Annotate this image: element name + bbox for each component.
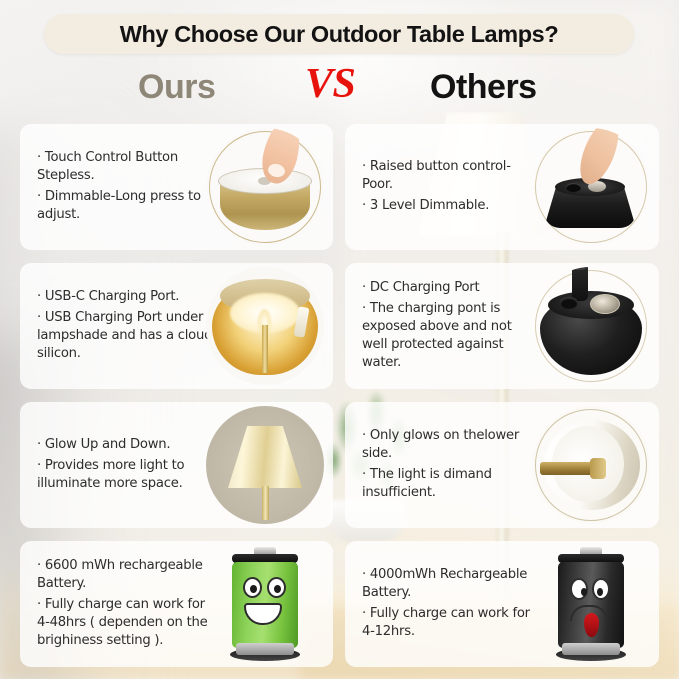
- others-card-battery: · 4000mWh Rechargeable Battery. · Fully …: [345, 541, 659, 667]
- bullet-item: · Dimmable-Long press to adjust.: [37, 188, 215, 224]
- page-title: Why Choose Our Outdoor Table Lamps?: [120, 21, 559, 48]
- card-text: · USB-C Charging Port. · USB Charging Po…: [37, 288, 215, 364]
- card-text: · Raised button control-Poor. · 3 Level …: [362, 158, 534, 216]
- bullet-item: · USB-C Charging Port.: [37, 288, 215, 306]
- card-text: · DC Charging Port · The charging pont i…: [362, 279, 534, 373]
- ours-card-glow-up-down: · Glow Up and Down. · Provides more ligh…: [20, 402, 333, 528]
- card-text: · Only glows on thelower side. · The lig…: [362, 427, 534, 503]
- card-text: · 4000mWh Rechargeable Battery. · Fully …: [362, 566, 534, 642]
- column-labels: Ours VS Others: [0, 62, 679, 118]
- ours-card-touch-control: · Touch Control Button Stepless. · Dimma…: [20, 124, 333, 250]
- others-card-dc-port: · DC Charging Port · The charging pont i…: [345, 263, 659, 389]
- comparison-row: · Glow Up and Down. · Provides more ligh…: [0, 400, 679, 539]
- black-lamp-dc-port-photo: [523, 263, 659, 389]
- card-text: · Touch Control Button Stepless. · Dimma…: [37, 149, 215, 225]
- gold-lampshade-glow-photo: [197, 402, 333, 528]
- others-card-raised-button: · Raised button control-Poor. · 3 Level …: [345, 124, 659, 250]
- bullet-item: · Raised button control-Poor.: [362, 158, 534, 194]
- green-happy-battery-icon: [197, 541, 333, 667]
- white-lampshade-underside-photo: [523, 402, 659, 528]
- gold-lamp-usbc-port-photo: [197, 263, 333, 389]
- others-card-lower-glow: · Only glows on thelower side. · The lig…: [345, 402, 659, 528]
- ours-card-battery: · 6600 mWh rechargeable Battery. · Fully…: [20, 541, 333, 667]
- card-text: · 6600 mWh rechargeable Battery. · Fully…: [37, 557, 215, 651]
- comparison-grid: · Touch Control Button Stepless. · Dimma…: [0, 122, 679, 678]
- bullet-item: · USB Charging Port under lampshade and …: [37, 309, 215, 363]
- bullet-item: · 3 Level Dimmable.: [362, 197, 534, 215]
- black-lamp-raised-button-photo: [523, 124, 659, 250]
- bullet-item: · The light is dimand insufficient.: [362, 466, 534, 502]
- bullet-item: · Fully charge can work for 4-12hrs.: [362, 605, 534, 641]
- bullet-item: · Only glows on thelower side.: [362, 427, 534, 463]
- comparison-row: · 6600 mWh rechargeable Battery. · Fully…: [0, 539, 679, 678]
- gold-lamp-touch-button-photo: [197, 124, 333, 250]
- bullet-item: · Provides more light to illuminate more…: [37, 457, 215, 493]
- column-label-others: Others: [430, 68, 537, 107]
- bullet-item: · Touch Control Button Stepless.: [37, 149, 215, 185]
- bullet-item: · 6600 mWh rechargeable Battery.: [37, 557, 215, 593]
- versus-label: VS: [305, 60, 355, 108]
- bullet-item: · 4000mWh Rechargeable Battery.: [362, 566, 534, 602]
- card-text: · Glow Up and Down. · Provides more ligh…: [37, 436, 215, 494]
- header-banner: Why Choose Our Outdoor Table Lamps?: [44, 14, 634, 54]
- bullet-item: · DC Charging Port: [362, 279, 534, 297]
- dark-sad-battery-icon: [523, 541, 659, 667]
- comparison-row: · Touch Control Button Stepless. · Dimma…: [0, 122, 679, 261]
- bullet-item: · The charging pont is exposed above and…: [362, 300, 534, 372]
- column-label-ours: Ours: [138, 68, 215, 107]
- bullet-item: · Glow Up and Down.: [37, 436, 215, 454]
- bullet-item: · Fully charge can work for 4-48hrs ( de…: [37, 596, 215, 650]
- comparison-row: · USB-C Charging Port. · USB Charging Po…: [0, 261, 679, 400]
- ours-card-usbc-port: · USB-C Charging Port. · USB Charging Po…: [20, 263, 333, 389]
